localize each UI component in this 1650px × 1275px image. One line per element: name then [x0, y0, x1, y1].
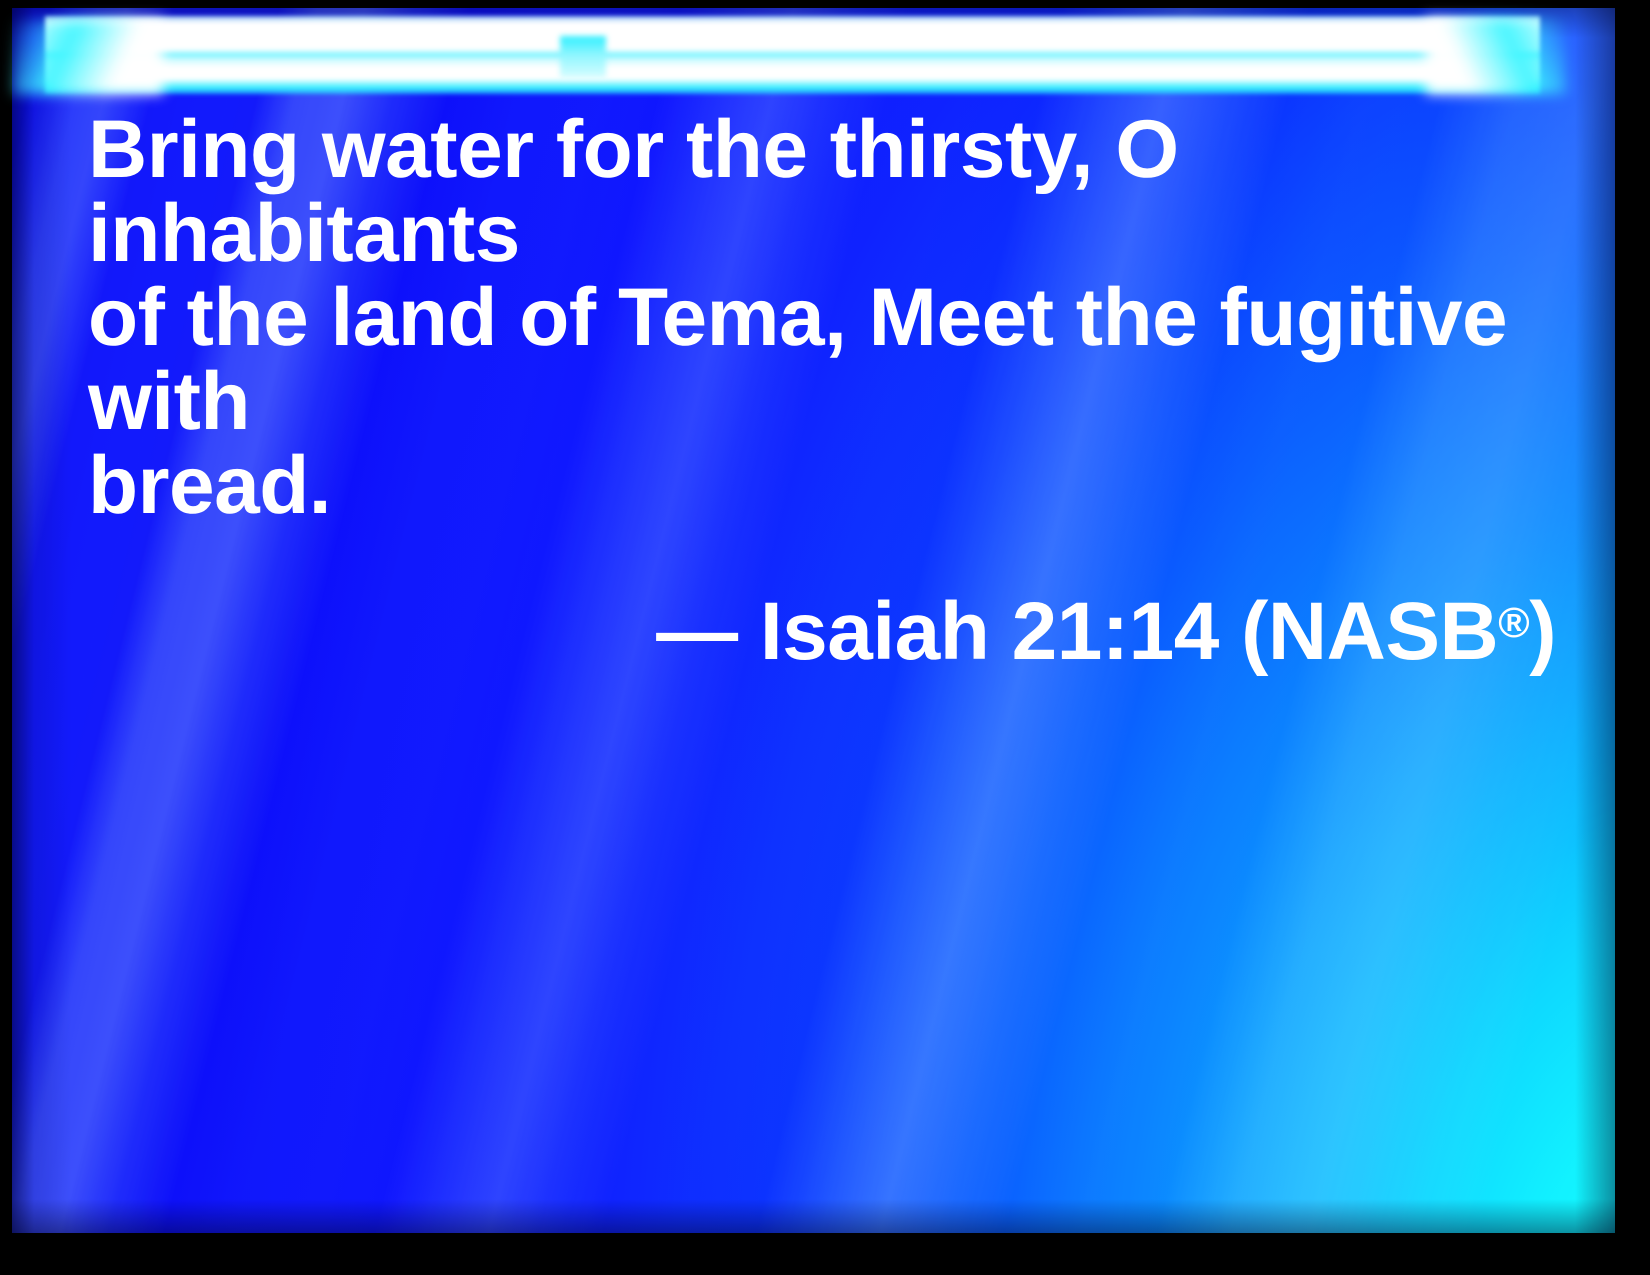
verse-line-2: of the land of Tema, Meet the fugitive w…: [88, 276, 1558, 444]
scripture-slide: Bring water for the thirsty, O inhabitan…: [0, 0, 1650, 1275]
attribution-prefix: — Isaiah 21:14 (NASB: [656, 586, 1498, 677]
attribution-suffix: ): [1529, 586, 1556, 677]
verse-attribution: — Isaiah 21:14 (NASB®): [88, 590, 1558, 674]
verse-line-1: Bring water for the thirsty, O inhabitan…: [88, 108, 1558, 276]
verse-line-3: bread.: [88, 444, 1558, 528]
top-white-glow-band: [45, 16, 1540, 94]
top-band-notch: [560, 36, 606, 78]
verse-text-block: Bring water for the thirsty, O inhabitan…: [88, 108, 1558, 674]
registered-trademark-icon: ®: [1498, 599, 1529, 647]
